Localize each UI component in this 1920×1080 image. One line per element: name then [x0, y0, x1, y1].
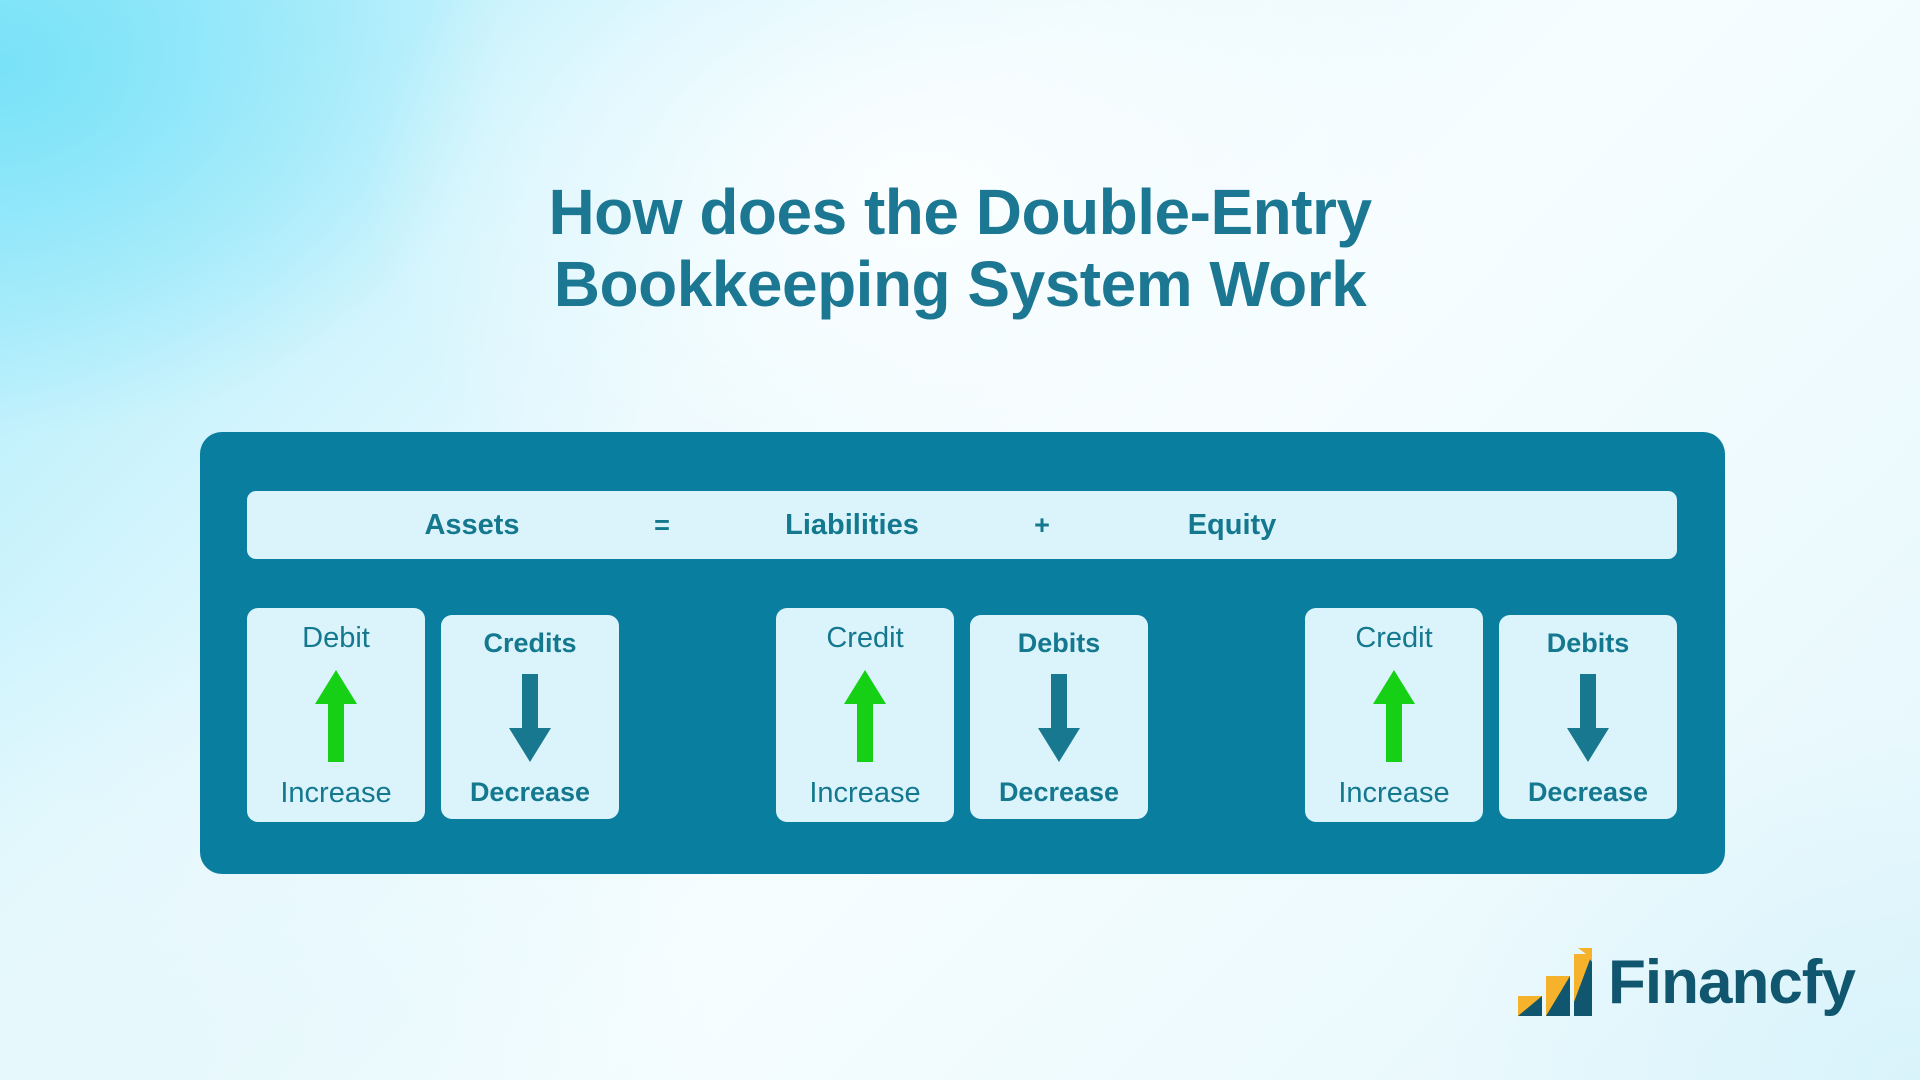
- down-arrow-icon: [1036, 659, 1082, 777]
- card-equity-increase[interactable]: Credit Increase: [1305, 608, 1483, 822]
- card-liabilities-decrease[interactable]: Debits Decrease: [970, 615, 1148, 819]
- card-group-liabilities: Credit Increase Debits Dec: [776, 608, 1148, 822]
- card-effect: Decrease: [470, 777, 590, 808]
- bar-chart-growth-icon: [1516, 946, 1594, 1020]
- equation-operator-plus: +: [982, 510, 1102, 541]
- page-title: How does the Double-Entry Bookkeeping Sy…: [0, 176, 1920, 321]
- up-arrow-icon: [842, 655, 888, 777]
- card-assets-decrease[interactable]: Credits Decrease: [441, 615, 619, 819]
- card-effect: Increase: [1338, 777, 1449, 810]
- accounting-equation-bar: Assets = Liabilities + Equity: [247, 491, 1677, 559]
- card-equity-decrease[interactable]: Debits Decrease: [1499, 615, 1677, 819]
- down-arrow-icon: [507, 659, 553, 777]
- card-effect: Decrease: [1528, 777, 1648, 808]
- card-title: Debits: [1018, 628, 1101, 659]
- card-liabilities-increase[interactable]: Credit Increase: [776, 608, 954, 822]
- equation-operator-equals: =: [602, 510, 722, 541]
- card-effect: Increase: [809, 777, 920, 810]
- card-title: Debit: [302, 622, 370, 655]
- up-arrow-icon: [1371, 655, 1417, 777]
- card-title: Credit: [1355, 622, 1432, 655]
- card-title: Credits: [483, 628, 576, 659]
- accounting-equation-panel: Assets = Liabilities + Equity Debit Incr…: [200, 432, 1725, 874]
- card-title: Debits: [1547, 628, 1630, 659]
- page-title-line-2: Bookkeeping System Work: [0, 248, 1920, 320]
- debit-credit-card-groups: Debit Increase Credits Dec: [247, 608, 1677, 838]
- card-group-assets: Debit Increase Credits Dec: [247, 608, 619, 822]
- up-arrow-icon: [313, 655, 359, 777]
- card-assets-increase[interactable]: Debit Increase: [247, 608, 425, 822]
- equation-term-assets: Assets: [342, 509, 602, 542]
- equation-term-liabilities: Liabilities: [722, 509, 982, 542]
- brand-logo[interactable]: Financfy: [1516, 942, 1855, 1024]
- card-title: Credit: [826, 622, 903, 655]
- infographic-canvas: How does the Double-Entry Bookkeeping Sy…: [0, 0, 1920, 1080]
- page-title-line-1: How does the Double-Entry: [0, 176, 1920, 248]
- card-effect: Decrease: [999, 777, 1119, 808]
- equation-term-equity: Equity: [1102, 509, 1362, 542]
- down-arrow-icon: [1565, 659, 1611, 777]
- card-effect: Increase: [280, 777, 391, 810]
- brand-name: Financfy: [1608, 952, 1855, 1014]
- card-group-equity: Credit Increase Debits Dec: [1305, 608, 1677, 822]
